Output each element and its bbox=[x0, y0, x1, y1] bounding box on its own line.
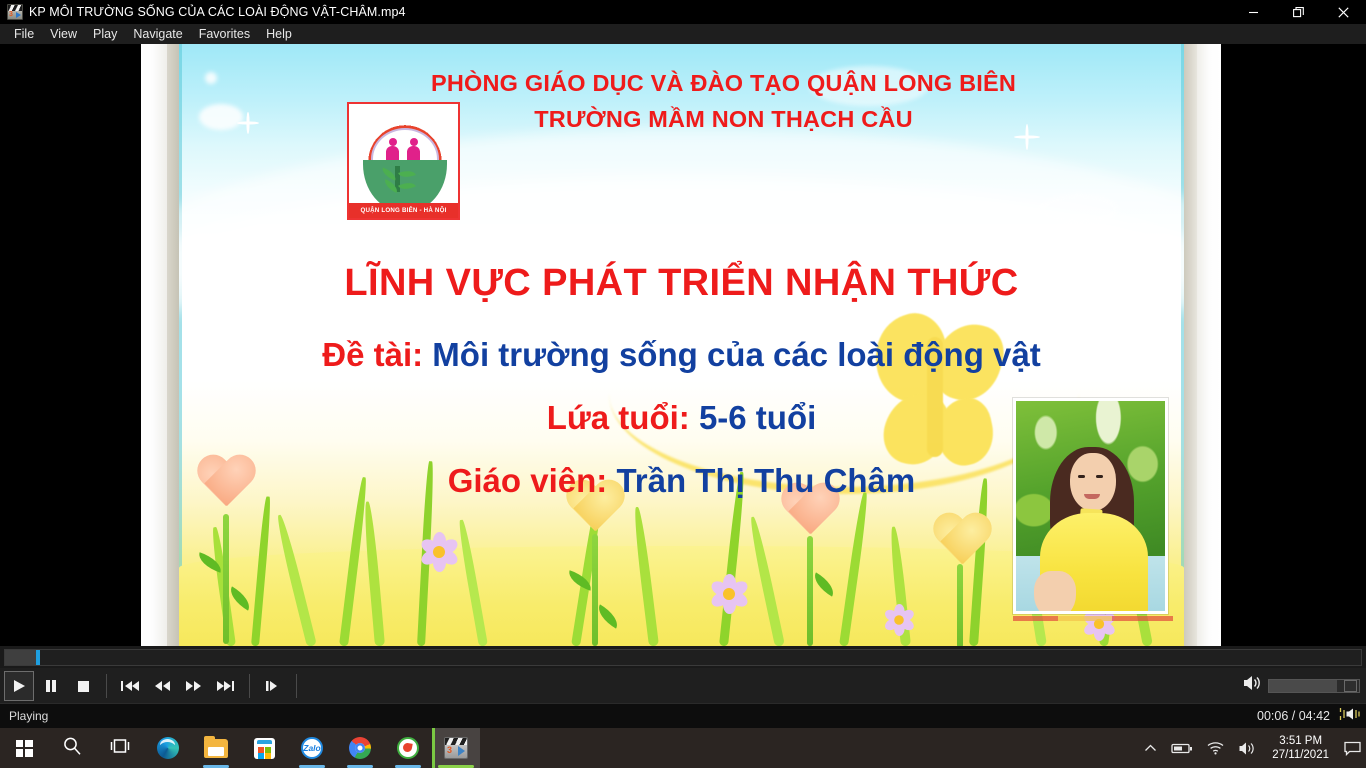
photo-underline bbox=[1013, 616, 1173, 621]
flower-stem bbox=[807, 536, 813, 646]
playback-state: Playing bbox=[9, 709, 48, 723]
menu-navigate[interactable]: Navigate bbox=[125, 25, 190, 43]
menu-help[interactable]: Help bbox=[258, 25, 300, 43]
taskbar-item-media-player[interactable]: 3 bbox=[432, 728, 480, 768]
presentation-slide: QUẬN LONG BIÊN - HÀ NỘI PHÒNG GIÁO DỤC V… bbox=[179, 44, 1184, 646]
search-icon bbox=[62, 736, 82, 761]
seek-handle[interactable] bbox=[36, 650, 40, 665]
close-button[interactable] bbox=[1321, 0, 1366, 24]
slide-header-line-2: TRƯỜNG MẦM NON THẠCH CẦU bbox=[221, 106, 1184, 133]
taskbar-start-button[interactable] bbox=[0, 728, 48, 768]
cloud-dot bbox=[205, 72, 217, 84]
slide-row-age-label: Lứa tuổi: bbox=[547, 399, 690, 436]
flower-stem bbox=[592, 534, 598, 646]
taskbar-search-button[interactable] bbox=[48, 728, 96, 768]
video-surface[interactable]: QUẬN LONG BIÊN - HÀ NỘI PHÒNG GIÁO DỤC V… bbox=[0, 44, 1366, 646]
taskbar: Zalo 3 bbox=[0, 728, 1366, 768]
store-icon bbox=[254, 738, 275, 759]
slide-row-teacher-value: Trần Thị Thu Châm bbox=[616, 462, 915, 499]
taskbar-item-antivirus[interactable] bbox=[384, 728, 432, 768]
restore-button[interactable] bbox=[1276, 0, 1321, 24]
menu-play[interactable]: Play bbox=[85, 25, 125, 43]
notification-icon bbox=[1344, 741, 1361, 756]
frame-step-button[interactable] bbox=[258, 671, 288, 701]
divider bbox=[106, 674, 107, 698]
volume-slider[interactable] bbox=[1268, 679, 1360, 693]
status-bar: Playing 00:06 / 04:42 bbox=[0, 703, 1366, 728]
daisy-flower bbox=[883, 604, 915, 636]
school-logo-caption: QUẬN LONG BIÊN - HÀ NỘI bbox=[349, 203, 458, 218]
volume-control[interactable] bbox=[1242, 668, 1360, 703]
divider bbox=[296, 674, 297, 698]
shield-green-icon bbox=[397, 737, 419, 759]
menu-favorites[interactable]: Favorites bbox=[191, 25, 258, 43]
taskbar-task-view-button[interactable] bbox=[96, 728, 144, 768]
media-clapperboard-icon: 3 bbox=[7, 4, 23, 20]
taskbar-item-microsoft-store[interactable] bbox=[240, 728, 288, 768]
windows-logo-icon bbox=[16, 740, 33, 757]
speaker-icon[interactable] bbox=[1231, 728, 1263, 768]
desktop: 3 KP MÔI TRƯỜNG SỐNG CỦA CÁC LOÀI ĐỘNG V… bbox=[0, 0, 1366, 768]
minimize-button[interactable] bbox=[1231, 0, 1276, 24]
sparkle-icon-3 bbox=[1084, 224, 1102, 242]
seek-progress bbox=[5, 650, 36, 665]
slide-row-age-value: 5-6 tuổi bbox=[699, 399, 816, 436]
slide-header-line-1: PHÒNG GIÁO DỤC VÀ ĐÀO TẠO QUẬN LONG BIÊN bbox=[221, 70, 1184, 97]
slide-row-topic-label: Đề tài: bbox=[322, 336, 423, 373]
cloud-shape-3 bbox=[1039, 194, 1119, 224]
slide-gutter-right bbox=[1184, 44, 1197, 646]
taskbar-item-file-explorer[interactable] bbox=[192, 728, 240, 768]
status-right-group: 00:06 / 04:42 bbox=[1257, 707, 1360, 726]
menu-view[interactable]: View bbox=[42, 25, 85, 43]
skip-forward-button[interactable] bbox=[211, 671, 241, 701]
flower-stem bbox=[223, 514, 229, 644]
skip-back-button[interactable] bbox=[115, 671, 145, 701]
slide-page-edge-right bbox=[1197, 44, 1221, 646]
seek-bar[interactable] bbox=[4, 649, 1362, 666]
notification-center-button[interactable] bbox=[1338, 728, 1366, 768]
volume-level bbox=[1269, 680, 1337, 692]
flower-stem bbox=[957, 564, 963, 646]
audio-stream-icon[interactable] bbox=[1338, 707, 1360, 726]
media-clapperboard-icon: 3 bbox=[444, 737, 468, 759]
menubar: File View Play Navigate Favorites Help bbox=[0, 24, 1366, 44]
wifi-icon[interactable] bbox=[1200, 728, 1231, 768]
chevron-up-icon[interactable] bbox=[1137, 728, 1164, 768]
pause-button[interactable] bbox=[36, 671, 66, 701]
system-tray: 3:51 PM 27/11/2021 bbox=[1137, 728, 1366, 768]
slide-page-edge-left bbox=[141, 44, 167, 646]
clock-time: 3:51 PM bbox=[1272, 734, 1329, 748]
taskbar-item-chrome[interactable] bbox=[336, 728, 384, 768]
slide-title: LĨNH VỰC PHÁT TRIỂN NHẬN THỨC bbox=[179, 262, 1184, 305]
daisy-flower bbox=[419, 532, 459, 572]
heart-flower bbox=[931, 514, 987, 566]
window-title: KP MÔI TRƯỜNG SỐNG CỦA CÁC LOÀI ĐỘNG VẬT… bbox=[29, 5, 406, 19]
menu-file[interactable]: File bbox=[6, 25, 42, 43]
slide-gutter-left bbox=[167, 44, 179, 646]
window-controls bbox=[1231, 0, 1366, 24]
edge-icon bbox=[157, 737, 179, 759]
slide-row-teacher-label: Giáo viên: bbox=[448, 462, 608, 499]
speaker-icon[interactable] bbox=[1242, 674, 1262, 697]
clock-date: 27/11/2021 bbox=[1272, 748, 1329, 762]
chrome-icon bbox=[349, 737, 371, 759]
stop-button[interactable] bbox=[68, 671, 98, 701]
window-titlebar[interactable]: 3 KP MÔI TRƯỜNG SỐNG CỦA CÁC LOÀI ĐỘNG V… bbox=[0, 0, 1366, 24]
slide-row-topic-value: Môi trường sống của các loài động vật bbox=[432, 336, 1040, 373]
player-controls: Activate Windows Go to Settings to activ… bbox=[0, 646, 1366, 703]
daisy-flower bbox=[709, 574, 749, 614]
taskbar-item-edge[interactable] bbox=[144, 728, 192, 768]
taskbar-item-zalo[interactable]: Zalo bbox=[288, 728, 336, 768]
folder-icon bbox=[204, 739, 228, 758]
fast-forward-button[interactable] bbox=[179, 671, 209, 701]
slide-row-topic: Đề tài: Môi trường sống của các loài độn… bbox=[179, 336, 1184, 374]
teacher-photo bbox=[1013, 398, 1168, 614]
task-view-icon bbox=[109, 737, 131, 760]
time-display: 00:06 / 04:42 bbox=[1257, 709, 1330, 723]
taskbar-clock[interactable]: 3:51 PM 27/11/2021 bbox=[1263, 728, 1338, 768]
volume-handle[interactable] bbox=[1344, 680, 1357, 692]
transport-buttons bbox=[0, 668, 1366, 703]
divider bbox=[249, 674, 250, 698]
rewind-button[interactable] bbox=[147, 671, 177, 701]
battery-icon[interactable] bbox=[1164, 728, 1200, 768]
play-button[interactable] bbox=[4, 671, 34, 701]
zalo-icon: Zalo bbox=[301, 737, 323, 759]
